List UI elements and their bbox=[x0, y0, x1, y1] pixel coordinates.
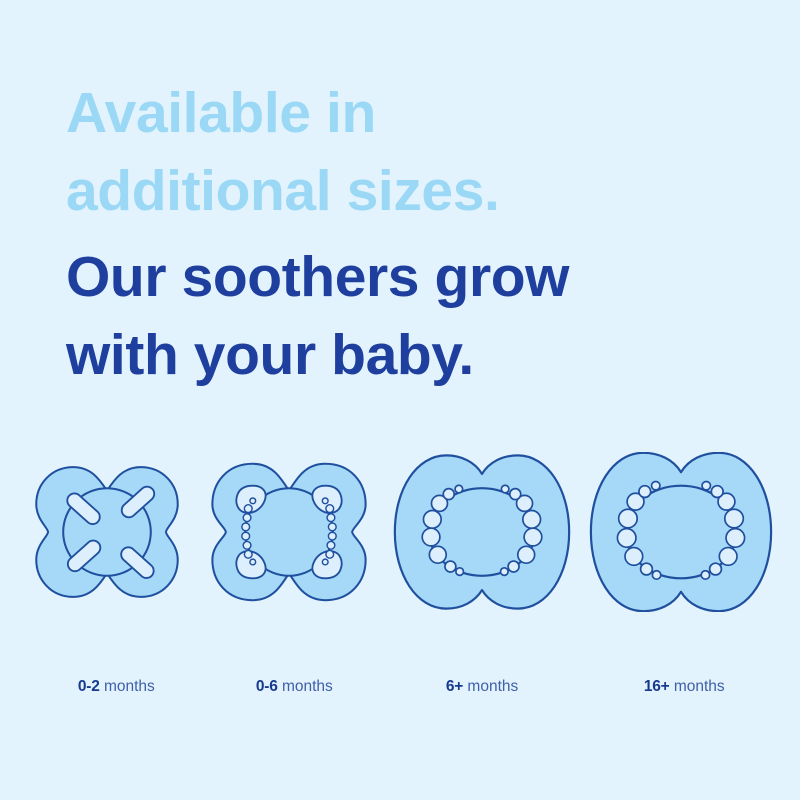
headline-dark-line-2: with your baby. bbox=[66, 316, 726, 394]
headline-spacer bbox=[66, 230, 726, 238]
size-label-unit-6plus: months bbox=[463, 678, 518, 695]
size-label-age-16plus: 16+ bbox=[644, 678, 670, 695]
soother-svg-size-3 bbox=[384, 452, 580, 612]
soother-illustration-0-6-months bbox=[196, 452, 382, 612]
size-label-6-months: 6+ months bbox=[420, 654, 518, 720]
soother-svg-size-4 bbox=[578, 452, 784, 612]
size-label-age-0-6: 0-6 bbox=[256, 678, 278, 695]
size-label-unit-0-6: months bbox=[278, 678, 333, 695]
soother-illustration-16-months bbox=[578, 452, 784, 612]
soother-illustration-6-months bbox=[384, 452, 580, 612]
soother-size-poster: Available in additional sizes. Our sooth… bbox=[0, 0, 800, 800]
soother-svg-size-1 bbox=[22, 452, 192, 612]
soother-svg-size-2 bbox=[196, 452, 382, 612]
soother-illustration-0-2-months bbox=[22, 452, 192, 612]
headline-block: Available in additional sizes. Our sooth… bbox=[66, 74, 726, 394]
size-label-16-months: 16+ months bbox=[618, 654, 725, 720]
size-label-unit-0-2: months bbox=[100, 678, 155, 695]
size-label-0-2-months: 0-2 months bbox=[52, 654, 155, 720]
size-label-unit-16plus: months bbox=[670, 678, 725, 695]
headline-light-line-1: Available in bbox=[66, 74, 726, 152]
size-label-age-0-2: 0-2 bbox=[78, 678, 100, 695]
size-label-0-6-months: 0-6 months bbox=[230, 654, 333, 720]
size-labels-row: 0-2 months 0-6 months 6+ months 16+ mont… bbox=[0, 654, 800, 680]
size-label-age-6plus: 6+ bbox=[446, 678, 463, 695]
headline-dark-line-1: Our soothers grow bbox=[66, 238, 726, 316]
headline-light-line-2: additional sizes. bbox=[66, 152, 726, 230]
soother-illustration-row bbox=[0, 452, 800, 612]
